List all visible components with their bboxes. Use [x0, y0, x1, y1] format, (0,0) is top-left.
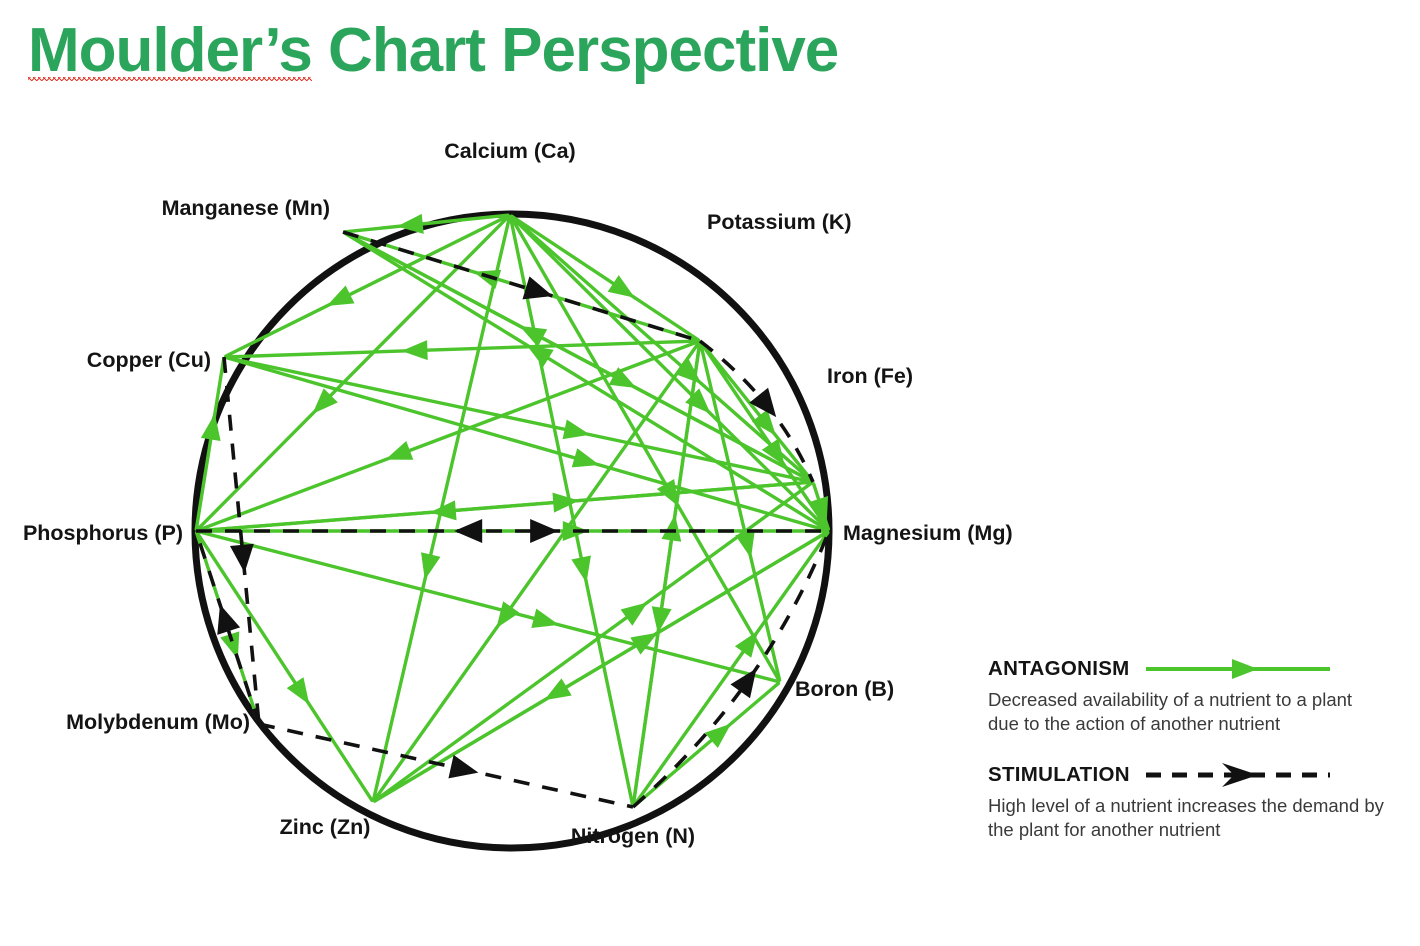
legend-item-antagonism: ANTAGONISM Decreased availability of a n…: [988, 655, 1388, 735]
slide-canvas: Moulder’s Chart Perspective Calcium (Ca)…: [0, 0, 1420, 946]
antagonism-arrowhead-Ca-to-K: [608, 275, 641, 306]
node-label-Ca: Calcium (Ca): [444, 139, 575, 163]
legend-stimulation-description: High level of a nutrient increases the d…: [988, 794, 1388, 841]
antagonism-edge-P-to-Cu: [196, 359, 223, 529]
stimulation-arrowhead-Cu-to-Mo: [230, 544, 257, 574]
legend-antagonism-title: ANTAGONISM: [988, 657, 1130, 681]
antagonism-edge-Ca-to-P: [197, 216, 508, 529]
antagonism-edge-K-to-Cu: [226, 341, 698, 357]
antagonism-arrowhead-Cu-to-Fe: [563, 420, 593, 445]
mulders-chart-diagram: Calcium (Ca)Potassium (K)Iron (Fe)Magnes…: [0, 110, 1030, 870]
legend: ANTAGONISM Decreased availability of a n…: [988, 655, 1388, 868]
antagonism-edge-P-to-B: [198, 532, 778, 682]
antagonism-arrowhead-Ca-to-Cu: [322, 285, 354, 314]
antagonism-edge-Fe-to-P: [198, 482, 811, 531]
stimulation-arrowhead-Mg-to-P: [454, 519, 482, 543]
antagonism-arrowhead-K-to-P: [382, 441, 413, 469]
antagonism-edge-Ca-to-B: [511, 217, 779, 681]
node-label-Mg: Magnesium (Mg): [843, 521, 1013, 545]
legend-stimulation-header: STIMULATION: [988, 761, 1388, 789]
node-label-Mo: Molybdenum (Mo): [66, 710, 250, 734]
legend-antagonism-header: ANTAGONISM: [988, 655, 1388, 683]
antagonism-edge-Ca-to-Cu: [226, 216, 508, 356]
antagonism-edge-Ca-to-K: [512, 216, 699, 340]
stimulation-arrowhead-N-to-Mg: [730, 662, 766, 699]
antagonism-arrowhead-K-to-Cu: [401, 340, 428, 361]
stimulation-arrowhead-P-to-Mg: [530, 519, 558, 543]
antagonism-arrowhead-Zn-to-Fe: [621, 594, 654, 625]
antagonism-arrowhead-Mg-to-Zn: [539, 678, 572, 708]
stimulation-edge-Mo-to-N: [259, 724, 633, 807]
antagonism-arrowhead-Ca-to-Zn: [415, 552, 440, 582]
antagonism-edge-Mg-to-Mn: [345, 233, 828, 530]
antagonism-arrowhead-Cu-to-Mg: [572, 448, 603, 474]
antagonism-edge-K-to-Zn: [374, 343, 699, 801]
legend-item-stimulation: STIMULATION High level of a nutrient inc…: [988, 761, 1388, 841]
node-label-P: Phosphorus (P): [23, 521, 183, 545]
antagonism-arrow-icon: [1144, 657, 1334, 681]
node-label-B: Boron (B): [795, 677, 894, 701]
antagonism-arrowhead-P-to-B: [531, 609, 561, 635]
antagonism-arrowhead-Ca-to-N: [571, 555, 596, 585]
stimulation-arrow-icon: [1144, 763, 1334, 787]
node-label-Zn: Zinc (Zn): [280, 815, 371, 839]
node-label-Fe: Iron (Fe): [827, 364, 913, 388]
antagonism-arrowhead-P-to-Zn: [287, 677, 318, 710]
node-label-N: Nitrogen (N): [571, 824, 695, 848]
node-label-Cu: Copper (Cu): [87, 348, 211, 372]
legend-stimulation-title: STIMULATION: [988, 763, 1130, 787]
legend-antagonism-description: Decreased availability of a nutrient to …: [988, 688, 1388, 735]
page-title: Moulder’s Chart Perspective: [28, 18, 838, 83]
antagonism-edge-Mn-to-Fe: [345, 233, 811, 481]
stimulation-arrowhead-Mo-to-N: [448, 755, 481, 784]
nutrient-interaction-wheel: Calcium (Ca)Potassium (K)Iron (Fe)Magnes…: [0, 110, 1030, 870]
title-rest: Chart Perspective: [312, 16, 838, 85]
antagonism-arrowhead-K-to-Mg: [762, 439, 793, 472]
title-misspelled-word: Moulder’s: [28, 18, 312, 83]
antagonism-edge-N-to-K: [633, 343, 699, 805]
node-label-K: Potassium (K): [707, 210, 852, 234]
node-label-Mn: Manganese (Mn): [162, 196, 330, 220]
